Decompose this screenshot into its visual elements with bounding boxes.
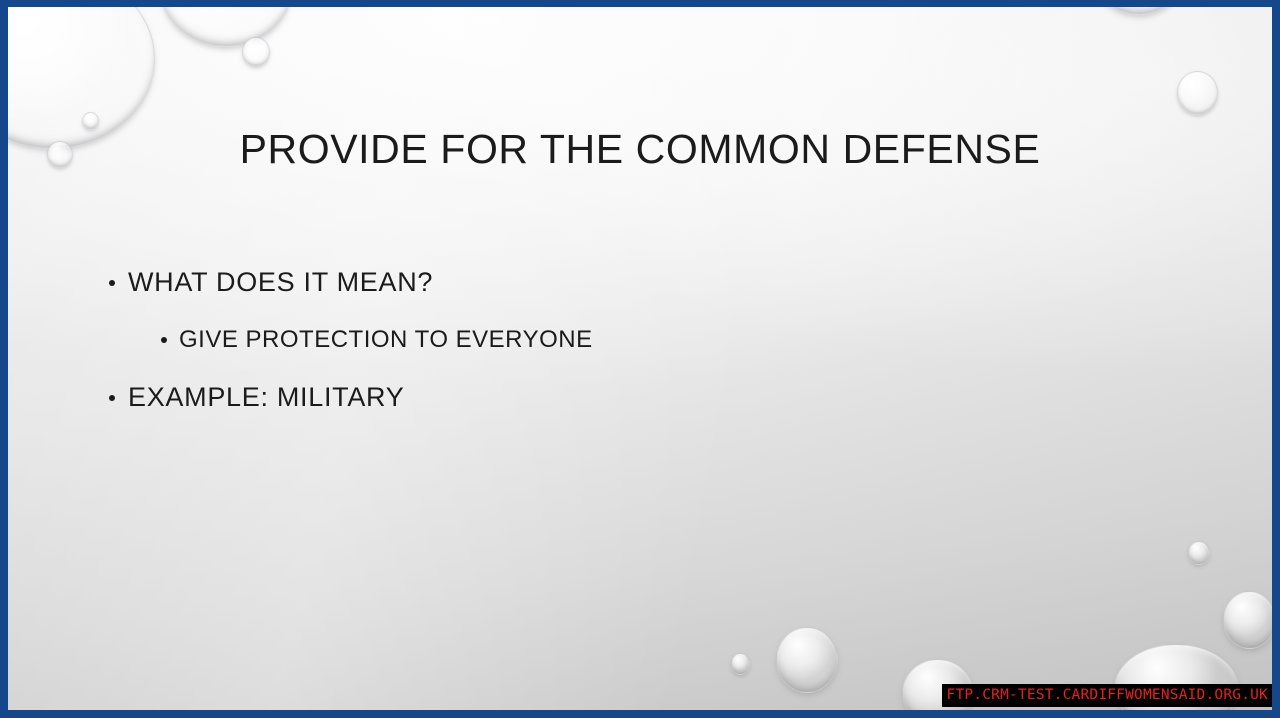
bullet-dot-icon (161, 337, 167, 343)
slide-title: PROVIDE FOR THE COMMON DEFENSE (8, 125, 1272, 173)
bullet-text: EXAMPLE: MILITARY (128, 378, 404, 416)
bullet-text: WHAT DOES IT MEAN? (128, 263, 433, 301)
watermark-url: FTP.CRM-TEST.CARDIFFWOMENSAID.ORG.UK (942, 684, 1272, 707)
slide-canvas: PROVIDE FOR THE COMMON DEFENSE WHAT DOES… (8, 7, 1272, 710)
bullet-item: EXAMPLE: MILITARY (8, 378, 1272, 416)
water-droplet-icon (1177, 71, 1218, 115)
water-droplet-icon (1091, 7, 1187, 15)
water-droplet-icon (1188, 541, 1210, 565)
bullet-dot-icon (109, 280, 115, 286)
bullet-dot-icon (109, 395, 115, 401)
water-droplet-icon (776, 627, 838, 693)
slide-frame: PROVIDE FOR THE COMMON DEFENSE WHAT DOES… (0, 0, 1280, 718)
slide-body: WHAT DOES IT MEAN? GIVE PROTECTION TO EV… (8, 263, 1272, 438)
bullet-item: GIVE PROTECTION TO EVERYONE (8, 323, 1272, 356)
water-droplet-icon (242, 37, 270, 67)
water-droplet-icon (160, 7, 292, 47)
bullet-text: GIVE PROTECTION TO EVERYONE (179, 323, 593, 356)
bullet-item: WHAT DOES IT MEAN? (8, 263, 1272, 301)
water-droplet-icon (731, 653, 750, 675)
water-droplet-icon (1223, 591, 1272, 649)
